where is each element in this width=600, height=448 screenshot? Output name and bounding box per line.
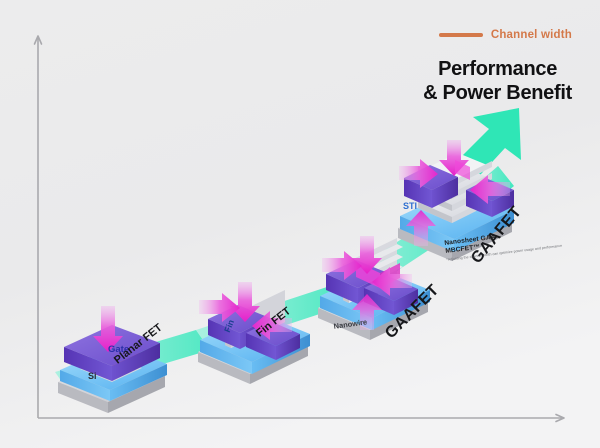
channel-width-line-icon [439,33,483,37]
legend-label: Channel width [491,29,572,41]
legend: Channel width [439,29,572,41]
diagram-canvas: Channel width Performance & Power Benefi… [0,0,600,448]
title-line-2: & Power Benefit [423,81,572,105]
page-title: Performance & Power Benefit [423,57,572,106]
title-line-1: Performance [423,57,572,81]
